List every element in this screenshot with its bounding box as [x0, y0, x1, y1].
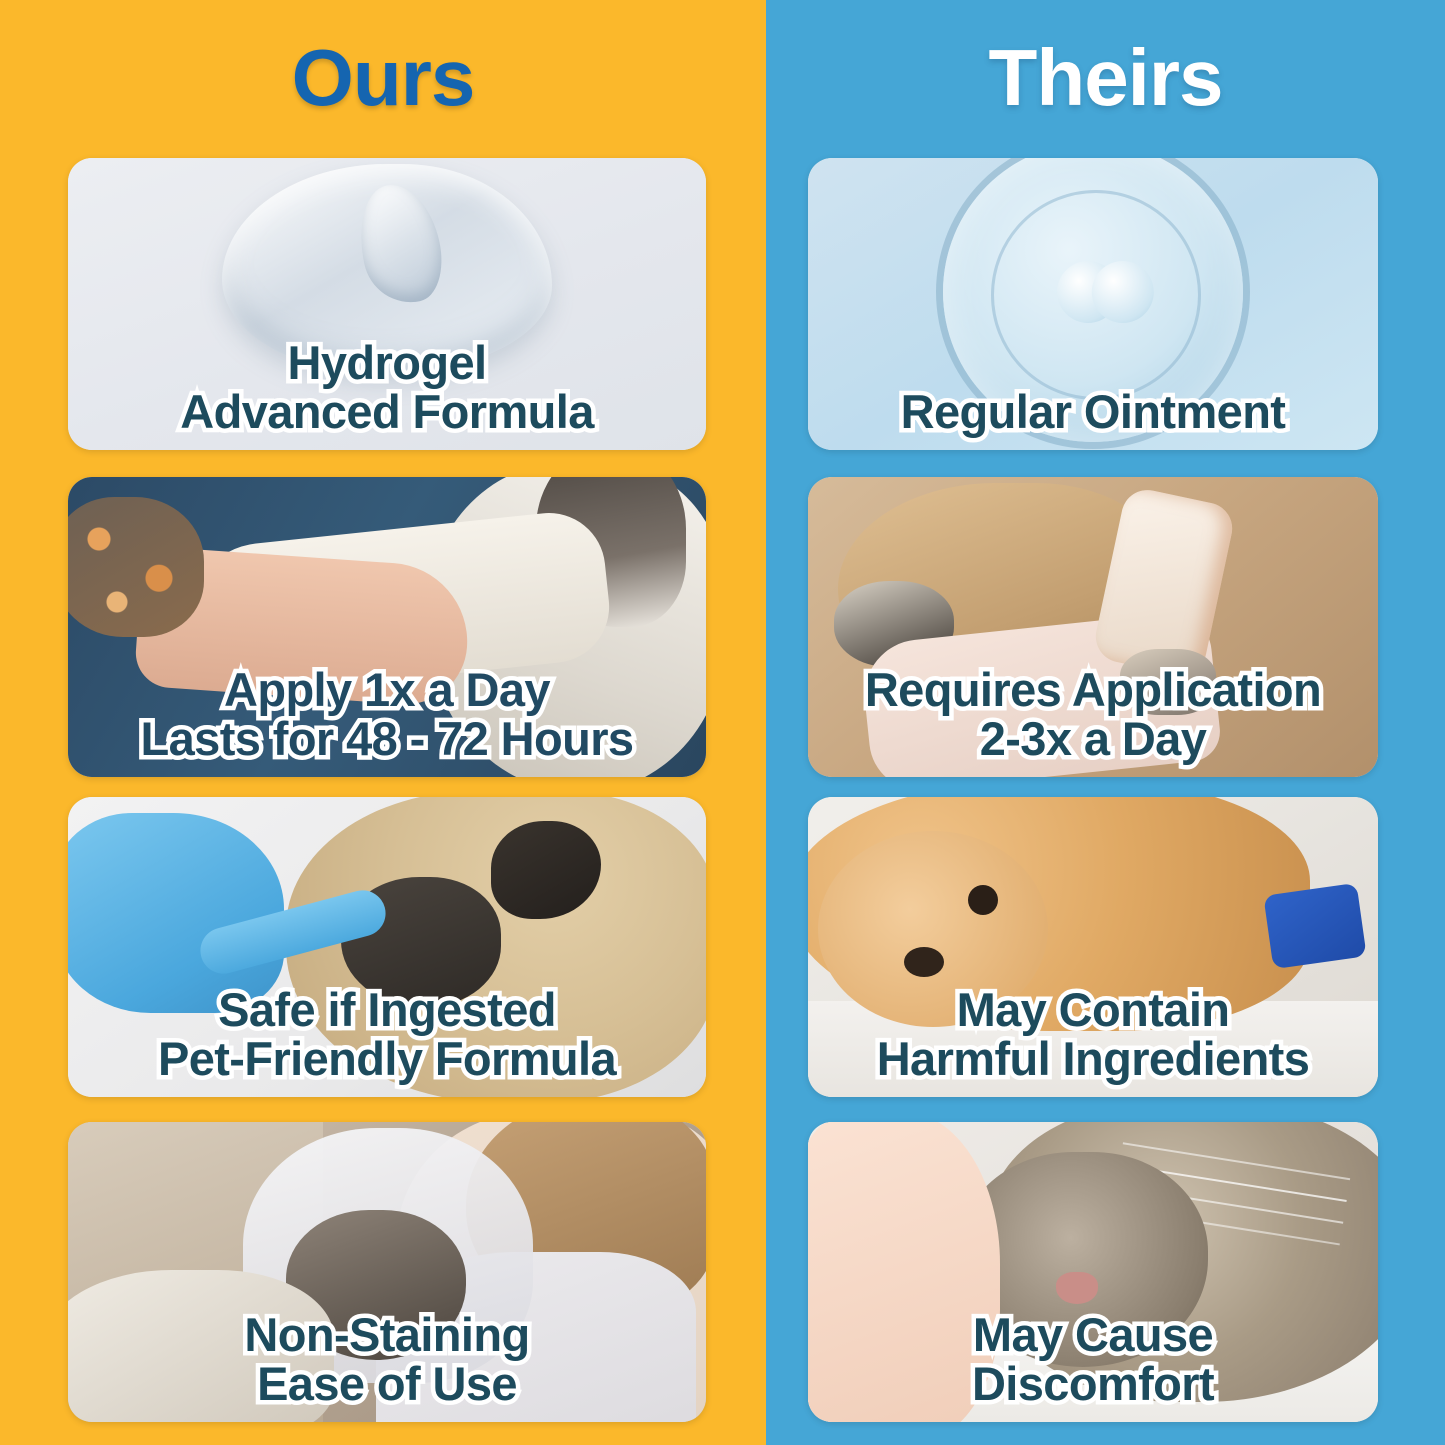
- theirs-card-discomfort: May Cause Discomfort: [808, 1122, 1378, 1422]
- caption-line-1: Regular Ointment: [818, 388, 1368, 436]
- caption-line-1: Safe if Ingested: [78, 986, 696, 1034]
- ours-card-4-caption: Non-Staining Ease of Use: [68, 1311, 706, 1408]
- caption-line-2: Discomfort: [818, 1360, 1368, 1408]
- caption-line-1: Requires Application: [818, 666, 1368, 714]
- ours-card-2-caption: Apply 1x a Day Lasts for 48 - 72 Hours: [68, 666, 706, 763]
- caption-line-1: May Cause: [818, 1311, 1368, 1359]
- caption-line-1: Hydrogel: [78, 339, 696, 387]
- caption-line-2: Ease of Use: [78, 1360, 696, 1408]
- ours-card-apply-frequency: Apply 1x a Day Lasts for 48 - 72 Hours: [68, 477, 706, 777]
- caption-line-1: Non-Staining: [78, 1311, 696, 1359]
- caption-line-2: Lasts for 48 - 72 Hours: [78, 715, 696, 763]
- theirs-card-3-caption: May Contain Harmful Ingredients: [808, 986, 1378, 1083]
- ours-card-non-staining: Non-Staining Ease of Use: [68, 1122, 706, 1422]
- theirs-card-1-caption: Regular Ointment: [808, 388, 1378, 436]
- ours-column-header: Ours: [0, 22, 766, 134]
- caption-line-2: Harmful Ingredients: [818, 1035, 1368, 1083]
- caption-line-1: Apply 1x a Day: [78, 666, 696, 714]
- theirs-card-2-caption: Requires Application 2-3x a Day: [808, 666, 1378, 763]
- caption-line-2: Advanced Formula: [78, 388, 696, 436]
- caption-line-2: 2-3x a Day: [818, 715, 1368, 763]
- ours-card-safe-if-ingested: Safe if Ingested Pet-Friendly Formula: [68, 797, 706, 1097]
- caption-line-2: Pet-Friendly Formula: [78, 1035, 696, 1083]
- caption-line-1: May Contain: [818, 986, 1368, 1034]
- ours-card-1-caption: Hydrogel Advanced Formula: [68, 339, 706, 436]
- comparison-infographic: Ours Theirs Hydrogel Advanced Formula Ap…: [0, 0, 1445, 1445]
- theirs-card-regular-ointment: Regular Ointment: [808, 158, 1378, 450]
- theirs-card-harmful-ingredients: May Contain Harmful Ingredients: [808, 797, 1378, 1097]
- theirs-card-4-caption: May Cause Discomfort: [808, 1311, 1378, 1408]
- theirs-column-header: Theirs: [766, 22, 1445, 134]
- theirs-card-application-frequency: Requires Application 2-3x a Day: [808, 477, 1378, 777]
- ours-card-3-caption: Safe if Ingested Pet-Friendly Formula: [68, 986, 706, 1083]
- ours-card-hydrogel: Hydrogel Advanced Formula: [68, 158, 706, 450]
